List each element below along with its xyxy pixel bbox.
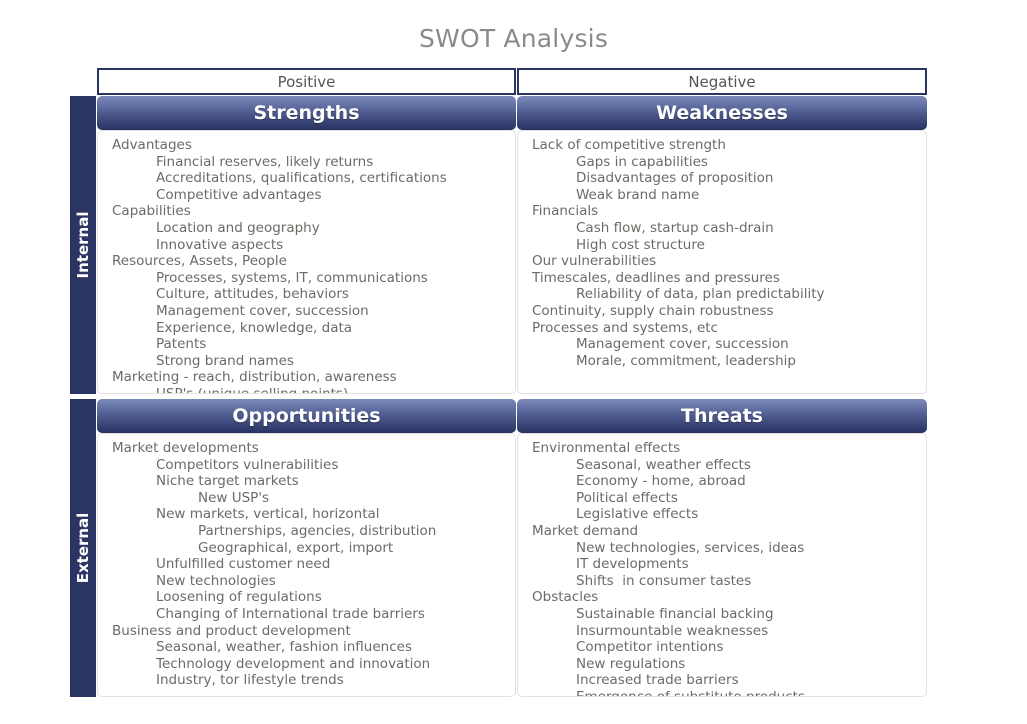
row-header-external-label: External <box>74 513 92 584</box>
swot-item: Morale, commitment, leadership <box>576 353 918 370</box>
swot-item: Accreditations, qualifications, certific… <box>156 170 507 187</box>
swot-item: New USP's <box>198 490 507 507</box>
swot-item: Experience, knowledge, data <box>156 320 507 337</box>
swot-item: Environmental effects <box>532 440 918 457</box>
swot-item: Advantages <box>112 137 507 154</box>
swot-item: Reliability of data, plan predictability <box>576 286 918 303</box>
swot-item: Business and product development <box>112 623 507 640</box>
swot-item: Financial reserves, likely returns <box>156 154 507 171</box>
swot-item: Unfulfilled customer need <box>156 556 507 573</box>
swot-item: Market demand <box>532 523 918 540</box>
column-header-positive: Positive <box>97 68 516 95</box>
swot-item: New technologies <box>156 573 507 590</box>
swot-item: Lack of competitive strength <box>532 137 918 154</box>
swot-item: Insurmountable weaknesses <box>576 623 918 640</box>
swot-item: New technologies, services, ideas <box>576 540 918 557</box>
swot-item: Location and geography <box>156 220 507 237</box>
swot-item: Obstacles <box>532 589 918 606</box>
swot-item: Marketing - reach, distribution, awarene… <box>112 369 507 386</box>
quadrant-opportunities: Opportunities Market developmentsCompeti… <box>97 399 516 697</box>
swot-item: Disadvantages of proposition <box>576 170 918 187</box>
swot-item: Our vulnerabilities <box>532 253 918 270</box>
quadrant-title-strengths: Strengths <box>97 96 516 130</box>
swot-item: Competitive advantages <box>156 187 507 204</box>
row-header-external: External <box>70 399 96 697</box>
swot-item: Political effects <box>576 490 918 507</box>
swot-item: Competitors vulnerabilities <box>156 457 507 474</box>
swot-item: Timescales, deadlines and pressures <box>532 270 918 287</box>
swot-item: New markets, vertical, horizontal <box>156 506 507 523</box>
swot-item: Processes and systems, etc <box>532 320 918 337</box>
quadrant-title-threats: Threats <box>517 399 927 433</box>
swot-item: Innovative aspects <box>156 237 507 254</box>
quadrant-threats: Threats Environmental effectsSeasonal, w… <box>517 399 927 697</box>
swot-item: Emergence of substitute products <box>576 689 918 697</box>
swot-item: Partnerships, agencies, distribution <box>198 523 507 540</box>
swot-item: Management cover, succession <box>576 336 918 353</box>
quadrant-body-strengths: AdvantagesFinancial reserves, likely ret… <box>97 130 516 394</box>
swot-item: Competitor intentions <box>576 639 918 656</box>
row-header-internal: Internal <box>70 96 96 394</box>
swot-item: Technology development and innovation <box>156 656 507 673</box>
swot-item: Patents <box>156 336 507 353</box>
swot-item: IT developments <box>576 556 918 573</box>
swot-item: Industry, tor lifestyle trends <box>156 672 507 689</box>
quadrant-body-threats: Environmental effectsSeasonal, weather e… <box>517 433 927 697</box>
swot-item: Management cover, succession <box>156 303 507 320</box>
swot-item: Gaps in capabilities <box>576 154 918 171</box>
swot-item: Shifts in consumer tastes <box>576 573 918 590</box>
swot-item: Financials <box>532 203 918 220</box>
swot-analysis-page: SWOT Analysis Positive Negative Internal… <box>0 0 1027 724</box>
column-header-negative: Negative <box>517 68 927 95</box>
swot-item: Seasonal, weather effects <box>576 457 918 474</box>
quadrant-strengths: Strengths AdvantagesFinancial reserves, … <box>97 96 516 394</box>
row-header-internal-label: Internal <box>74 212 92 279</box>
swot-item: Seasonal, weather, fashion influences <box>156 639 507 656</box>
swot-item: Cash flow, startup cash-drain <box>576 220 918 237</box>
swot-item: Continuity, supply chain robustness <box>532 303 918 320</box>
swot-item: Sustainable financial backing <box>576 606 918 623</box>
swot-item: Processes, systems, IT, communications <box>156 270 507 287</box>
quadrant-body-weaknesses: Lack of competitive strengthGaps in capa… <box>517 130 927 394</box>
swot-item: Economy - home, abroad <box>576 473 918 490</box>
swot-item: USP's (unique selling points) <box>156 386 507 394</box>
swot-item: Changing of International trade barriers <box>156 606 507 623</box>
swot-item: Increased trade barriers <box>576 672 918 689</box>
swot-item: Geographical, export, import <box>198 540 507 557</box>
swot-item: Strong brand names <box>156 353 507 370</box>
swot-item: Legislative effects <box>576 506 918 523</box>
quadrant-weaknesses: Weaknesses Lack of competitive strengthG… <box>517 96 927 394</box>
swot-item: Weak brand name <box>576 187 918 204</box>
swot-item: Culture, attitudes, behaviors <box>156 286 507 303</box>
swot-item: Market developments <box>112 440 507 457</box>
quadrant-title-weaknesses: Weaknesses <box>517 96 927 130</box>
swot-item: New regulations <box>576 656 918 673</box>
swot-item: Loosening of regulations <box>156 589 507 606</box>
swot-item: High cost structure <box>576 237 918 254</box>
swot-item: Capabilities <box>112 203 507 220</box>
quadrant-body-opportunities: Market developmentsCompetitors vulnerabi… <box>97 433 516 697</box>
swot-item: Niche target markets <box>156 473 507 490</box>
quadrant-title-opportunities: Opportunities <box>97 399 516 433</box>
swot-item: Resources, Assets, People <box>112 253 507 270</box>
page-title: SWOT Analysis <box>0 24 1027 53</box>
